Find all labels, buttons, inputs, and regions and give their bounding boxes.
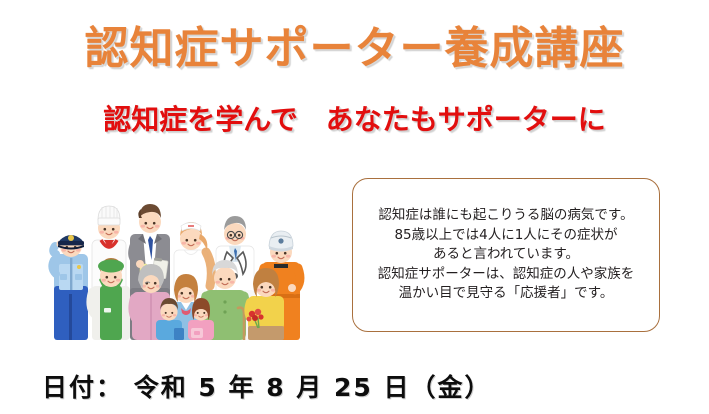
- event-date: 日付： 令和 5 年 8 月 25 日（金）: [42, 368, 492, 404]
- page-title: 認知症サポーター養成講座: [0, 12, 709, 76]
- poster-root: 認知症サポーター養成講座 認知症を学んで あなたもサポーターに: [0, 0, 709, 414]
- page-subtitle: 認知症を学んで あなたもサポーターに: [0, 98, 709, 138]
- figure-police-officer: [52, 235, 88, 340]
- info-line-2: 85歳以上では4人に1人にその症状が: [394, 226, 617, 246]
- info-text-box: 認知症は誰にも起こりうる脳の病気です。 85歳以上では4人に1人にその症状が あ…: [352, 178, 660, 332]
- info-line-1: 認知症は誰にも起こりうる脳の病気です。: [378, 206, 633, 226]
- info-line-4: 認知症サポーターは、認知症の人や家族を: [378, 265, 635, 285]
- info-line-3: あると言われています。: [433, 245, 579, 265]
- info-line-5: 温かい目で見守る「応援者」です。: [399, 284, 614, 304]
- people-illustration: [48, 168, 348, 340]
